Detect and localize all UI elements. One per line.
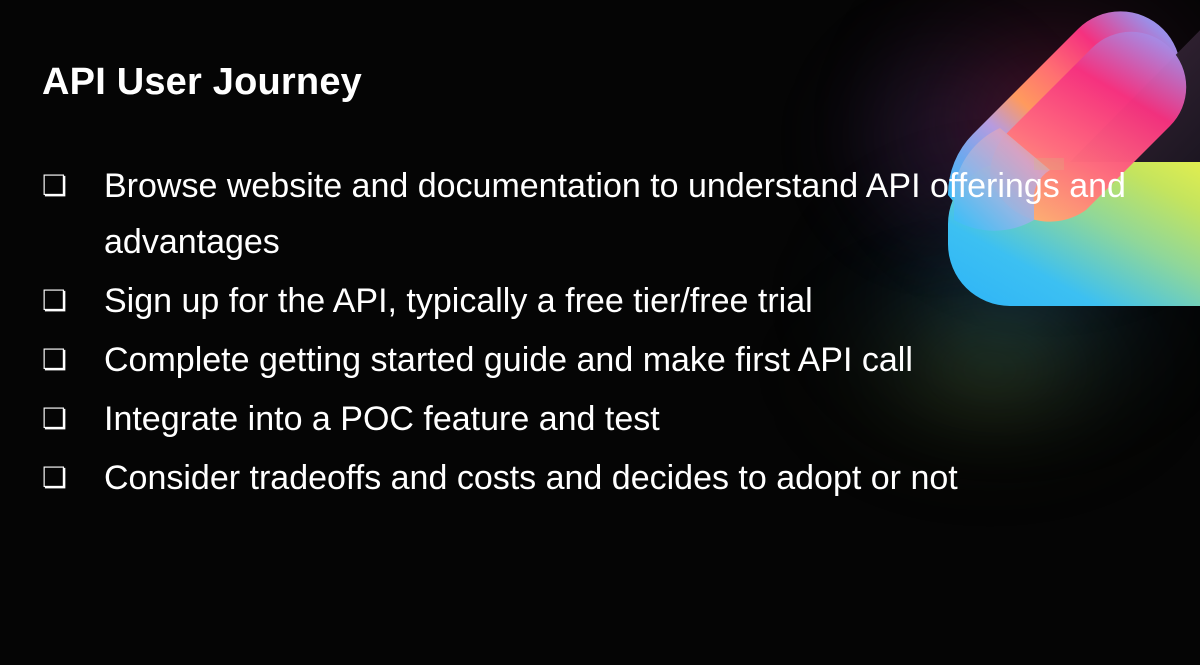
drop-shadowed-square-bullet-icon: ❏ bbox=[38, 273, 104, 329]
drop-shadowed-square-bullet-icon: ❏ bbox=[38, 158, 104, 214]
drop-shadowed-square-bullet-icon: ❏ bbox=[38, 391, 104, 447]
list-item-label: Integrate into a POC feature and test bbox=[104, 391, 1168, 447]
list-item: ❏ Consider tradeoffs and costs and decid… bbox=[38, 450, 1168, 506]
list-item-label: Consider tradeoffs and costs and decides… bbox=[104, 450, 1168, 506]
list-item: ❏ Complete getting started guide and mak… bbox=[38, 332, 1168, 388]
page-title: API User Journey bbox=[42, 62, 362, 104]
list-item-label: Sign up for the API, typically a free ti… bbox=[104, 273, 1168, 329]
list-item-label: Complete getting started guide and make … bbox=[104, 332, 1168, 388]
drop-shadowed-square-bullet-icon: ❏ bbox=[38, 332, 104, 388]
list-item: ❏ Sign up for the API, typically a free … bbox=[38, 273, 1168, 329]
bullet-list: ❏ Browse website and documentation to un… bbox=[38, 158, 1168, 509]
list-item-label: Browse website and documentation to unde… bbox=[104, 158, 1168, 270]
drop-shadowed-square-bullet-icon: ❏ bbox=[38, 450, 104, 506]
list-item: ❏ Browse website and documentation to un… bbox=[38, 158, 1168, 270]
list-item: ❏ Integrate into a POC feature and test bbox=[38, 391, 1168, 447]
slide: API User Journey ❏ Browse website and do… bbox=[0, 0, 1200, 665]
